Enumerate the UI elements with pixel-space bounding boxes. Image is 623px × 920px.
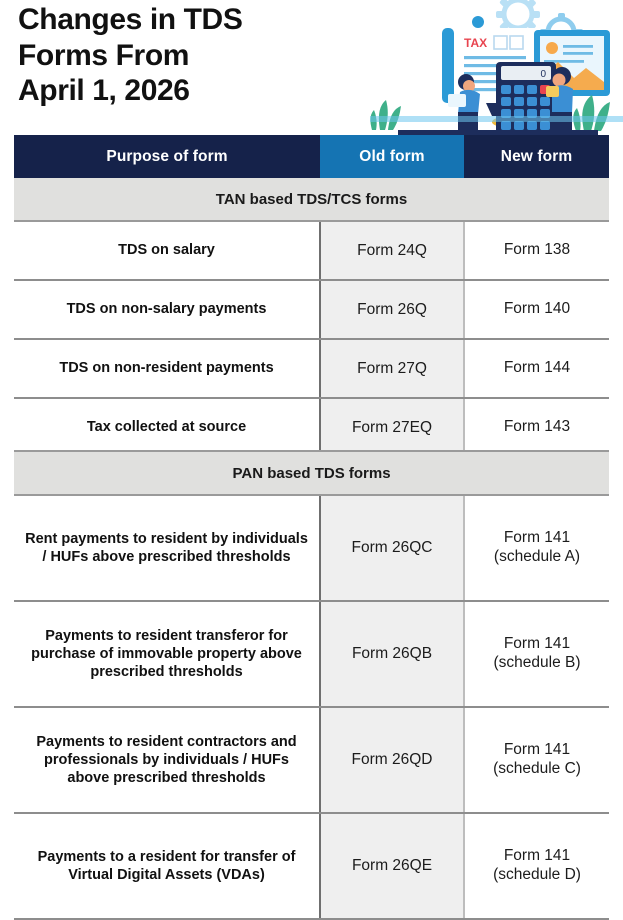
dot-accent: [472, 16, 484, 28]
tan-forms-table-wrapper: Purpose of form Old form New form TAN ba…: [14, 135, 609, 458]
table-row: Payments to a resident for transfer of V…: [14, 813, 609, 919]
cell-new-form-line1: Form 141: [473, 635, 601, 654]
column-header-new-form: New form: [464, 135, 609, 178]
ground-accent-light: [370, 116, 623, 122]
cell-new-form: Form 143: [464, 398, 609, 457]
cell-new-form: Form 144: [464, 339, 609, 398]
cell-purpose: Tax collected at source: [14, 398, 320, 457]
cell-new-form-line1: Form 141: [473, 847, 601, 866]
pan-forms-table-wrapper: PAN based TDS forms Rent payments to res…: [14, 450, 609, 920]
table-row: TDS on salary Form 24Q Form 138: [14, 221, 609, 280]
cell-old-form: Form 27Q: [320, 339, 464, 398]
cell-new-form: Form 141 (schedule A): [464, 495, 609, 601]
table-row: Tax collected at source Form 27EQ Form 1…: [14, 398, 609, 457]
cell-old-form: Form 26QC: [320, 495, 464, 601]
cell-purpose: Payments to resident transferor for purc…: [14, 601, 320, 707]
cell-new-form: Form 140: [464, 280, 609, 339]
cell-old-form: Form 26QE: [320, 813, 464, 919]
cell-purpose: TDS on non-resident payments: [14, 339, 320, 398]
avatar-on-screen: [546, 42, 558, 54]
cell-purpose: Payments to a resident for transfer of V…: [14, 813, 320, 919]
tax-filing-illustration: TAX: [370, 0, 623, 135]
column-header-purpose: Purpose of form: [14, 135, 320, 178]
plant-right-illustration: [573, 95, 610, 131]
cell-new-form: Form 141 (schedule C): [464, 707, 609, 813]
page-title: Changes in TDS Forms From April 1, 2026: [18, 2, 378, 109]
cell-new-form: Form 138: [464, 221, 609, 280]
table-header-row: Purpose of form Old form New form: [14, 135, 609, 178]
cell-old-form: Form 24Q: [320, 221, 464, 280]
section-title-pan: PAN based TDS forms: [14, 451, 609, 495]
pan-forms-table: PAN based TDS forms Rent payments to res…: [14, 450, 609, 920]
title-line-1: Changes in TDS: [18, 2, 378, 38]
cell-old-form: Form 26QD: [320, 707, 464, 813]
cell-new-form-line2: (schedule A): [473, 548, 601, 567]
table-row: TDS on non-resident payments Form 27Q Fo…: [14, 339, 609, 398]
tax-label: TAX: [464, 36, 487, 50]
cell-purpose: TDS on non-salary payments: [14, 280, 320, 339]
cell-new-form: Form 141 (schedule B): [464, 601, 609, 707]
cell-old-form: Form 27EQ: [320, 398, 464, 457]
column-header-old-form: Old form: [320, 135, 464, 178]
tan-forms-table: Purpose of form Old form New form TAN ba…: [14, 135, 609, 458]
section-title-tan: TAN based TDS/TCS forms: [14, 178, 609, 221]
monitor-frame-left: [442, 28, 454, 103]
cell-new-form-line2: (schedule D): [473, 866, 601, 885]
cell-new-form: Form 141 (schedule D): [464, 813, 609, 919]
title-line-3: April 1, 2026: [18, 73, 378, 109]
calculator-display-value: 0: [540, 69, 546, 80]
cell-purpose: Payments to resident contractors and pro…: [14, 707, 320, 813]
table-row: TDS on non-salary payments Form 26Q Form…: [14, 280, 609, 339]
cell-old-form: Form 26QB: [320, 601, 464, 707]
table-row: Rent payments to resident by individuals…: [14, 495, 609, 601]
section-title-row-tan: TAN based TDS/TCS forms: [14, 178, 609, 221]
cell-purpose: Rent payments to resident by individuals…: [14, 495, 320, 601]
cell-old-form: Form 26Q: [320, 280, 464, 339]
section-title-row-pan: PAN based TDS forms: [14, 451, 609, 495]
cell-new-form-line2: (schedule B): [473, 654, 601, 673]
plant-left-illustration: [370, 100, 401, 130]
cell-purpose: TDS on salary: [14, 221, 320, 280]
cell-new-form-line1: Form 141: [473, 741, 601, 760]
infographic-header: Changes in TDS Forms From April 1, 2026: [0, 0, 623, 135]
table-row: Payments to resident transferor for purc…: [14, 601, 609, 707]
title-line-2: Forms From: [18, 38, 378, 74]
table-row: Payments to resident contractors and pro…: [14, 707, 609, 813]
cell-new-form-line2: (schedule C): [473, 760, 601, 779]
cell-new-form-line1: Form 141: [473, 529, 601, 548]
